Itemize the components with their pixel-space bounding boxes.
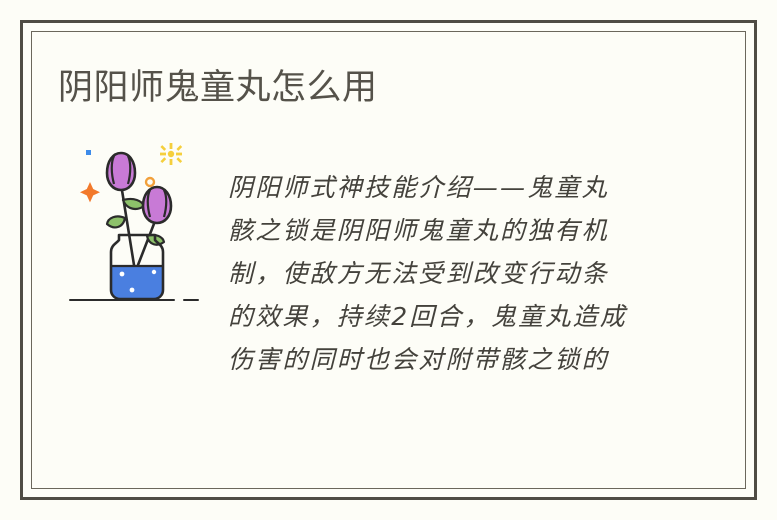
tulips-in-jar-illustration [62,140,212,310]
tulip-flower-right [143,187,171,223]
article-body: 阴阳师式神技能介绍——鬼童丸 骸之锁是阴阳师鬼童丸的独有机 制，使敌方无法受到改… [228,166,666,381]
yellow-starburst-icon [160,143,182,165]
body-line: 制，使敌方无法受到改变行动条 [228,252,666,295]
orange-four-point-star-icon [80,182,100,202]
body-line: 阴阳师式神技能介绍——鬼童丸 [228,166,666,209]
article-card: 阴阳师鬼童丸怎么用 [0,0,777,520]
orange-circle-outline-icon [146,178,154,186]
body-line: 的效果，持续2回合，鬼童丸造成 [228,295,666,338]
tulip-flower-left [107,153,135,190]
body-line: 伤害的同时也会对附带骸之锁的 [228,338,666,381]
page-title: 阴阳师鬼童丸怎么用 [58,66,378,110]
body-line: 骸之锁是阴阳师鬼童丸的独有机 [228,209,666,252]
jar-water [109,266,165,300]
blue-square-dot-icon [86,150,91,155]
